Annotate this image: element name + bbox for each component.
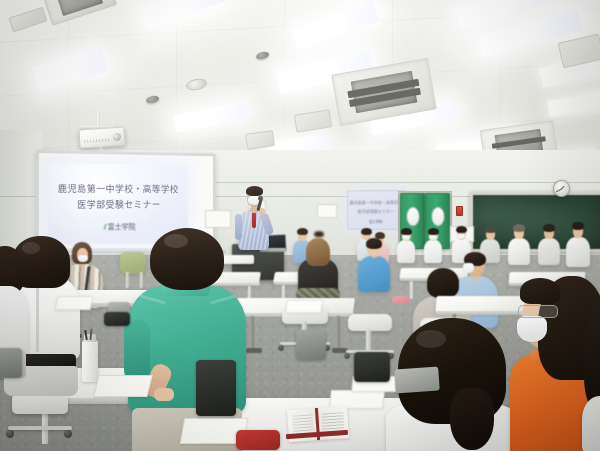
presenter-necktie <box>252 213 256 228</box>
attendee-torso <box>566 237 590 267</box>
door-window <box>431 207 444 226</box>
attendee-hair <box>485 226 496 233</box>
attendee-face-mask <box>429 235 437 240</box>
handout-paper[interactable] <box>285 300 323 313</box>
attendee-face-mask <box>457 234 465 239</box>
attendee-hair <box>427 268 459 298</box>
attendee-hair <box>572 222 584 230</box>
attendee-hand <box>154 388 174 401</box>
attendee-hair <box>513 224 525 232</box>
attendee-hair <box>314 231 324 237</box>
side-slide-logo: 富士学院 <box>348 219 404 224</box>
attendee-torso <box>424 240 442 263</box>
wall-clock <box>553 180 570 197</box>
wall-seam <box>200 182 600 183</box>
attendee-hair-front <box>520 278 560 304</box>
red-object <box>236 430 280 450</box>
backpack[interactable] <box>354 352 390 382</box>
attendee-hair-shine <box>164 234 188 248</box>
wall-poster <box>317 204 337 218</box>
attendee-hair-shine <box>416 330 446 348</box>
logo-mark-icon: // <box>104 223 106 232</box>
attendee-ponytail <box>450 388 494 450</box>
shoulder-bag[interactable] <box>104 312 130 326</box>
attendee-hair <box>428 228 439 235</box>
chair-caster <box>278 345 284 351</box>
desk-foot <box>246 348 262 353</box>
attendee-hair <box>297 228 308 235</box>
attendee-face-mask <box>402 235 410 240</box>
backpack[interactable] <box>196 360 236 416</box>
attendee-back <box>397 228 415 262</box>
slide-line-2: 医学部受験セミナー <box>48 197 188 211</box>
attendee-torso <box>508 238 530 265</box>
attendee-back <box>424 228 442 262</box>
projector-lens-icon <box>113 133 122 142</box>
seminar-room-photo: 鹿児島第一中学校・高等学校 医学部受験セミナー //富士学院 鹿児島第一中学校・… <box>0 0 600 451</box>
door-window <box>406 207 419 226</box>
attendee-face-mask <box>517 316 547 342</box>
chair-caster <box>344 353 350 359</box>
fire-alarm-box[interactable] <box>456 206 463 216</box>
chair-caster <box>64 430 72 438</box>
side-projection-screen: 鹿児島第一中学校・高等学校 医学部受験セミナー 富士学院 <box>347 190 405 230</box>
shoulder-bag[interactable] <box>296 330 326 360</box>
attendee-back <box>566 222 590 266</box>
attendee-blouse-seam <box>36 284 39 352</box>
clock-hand-minute <box>556 189 562 193</box>
chair-base <box>8 426 72 430</box>
side-slide-line-2: 医学部受験セミナー <box>348 209 404 215</box>
attendee-torso <box>0 286 28 356</box>
desk-leg <box>250 316 254 350</box>
attendee-hair <box>584 300 600 410</box>
attendee-torso <box>538 238 560 265</box>
side-slide-line-1: 鹿児島第一中学校・高等学校 <box>348 200 404 206</box>
tote-bag[interactable] <box>0 348 22 378</box>
slide-line-1: 鹿児島第一中学校・高等学校 <box>48 181 188 195</box>
attendee-hair <box>366 238 382 249</box>
chair-caster <box>6 430 14 438</box>
chair-post <box>366 330 371 352</box>
attendee-torso <box>358 256 390 292</box>
desk-leg <box>336 316 340 350</box>
attendee-back <box>508 224 530 264</box>
microphone-head-icon <box>258 196 263 201</box>
attendee-torso <box>582 396 600 451</box>
handout-paper[interactable] <box>93 375 152 397</box>
wall-poster <box>205 210 231 228</box>
attendee-torso <box>397 240 415 263</box>
attendee-hair <box>306 238 330 266</box>
water-bottle[interactable] <box>82 340 98 382</box>
pencil-pouch[interactable] <box>394 366 440 393</box>
projector-vent <box>84 138 109 143</box>
handout-paper[interactable] <box>55 296 94 310</box>
pink-object <box>392 296 410 304</box>
attendee-far-right <box>584 300 600 451</box>
attendee-back <box>538 224 560 264</box>
attendee-arm <box>124 320 150 382</box>
presenter-hair <box>246 186 263 196</box>
attendee-hair <box>543 224 555 232</box>
eyeglasses-icon <box>518 305 558 318</box>
attendee-blue-shirt <box>358 238 390 292</box>
attendee-hair <box>456 226 467 233</box>
ceiling-projector <box>78 126 125 148</box>
attendee-hair <box>401 228 412 235</box>
